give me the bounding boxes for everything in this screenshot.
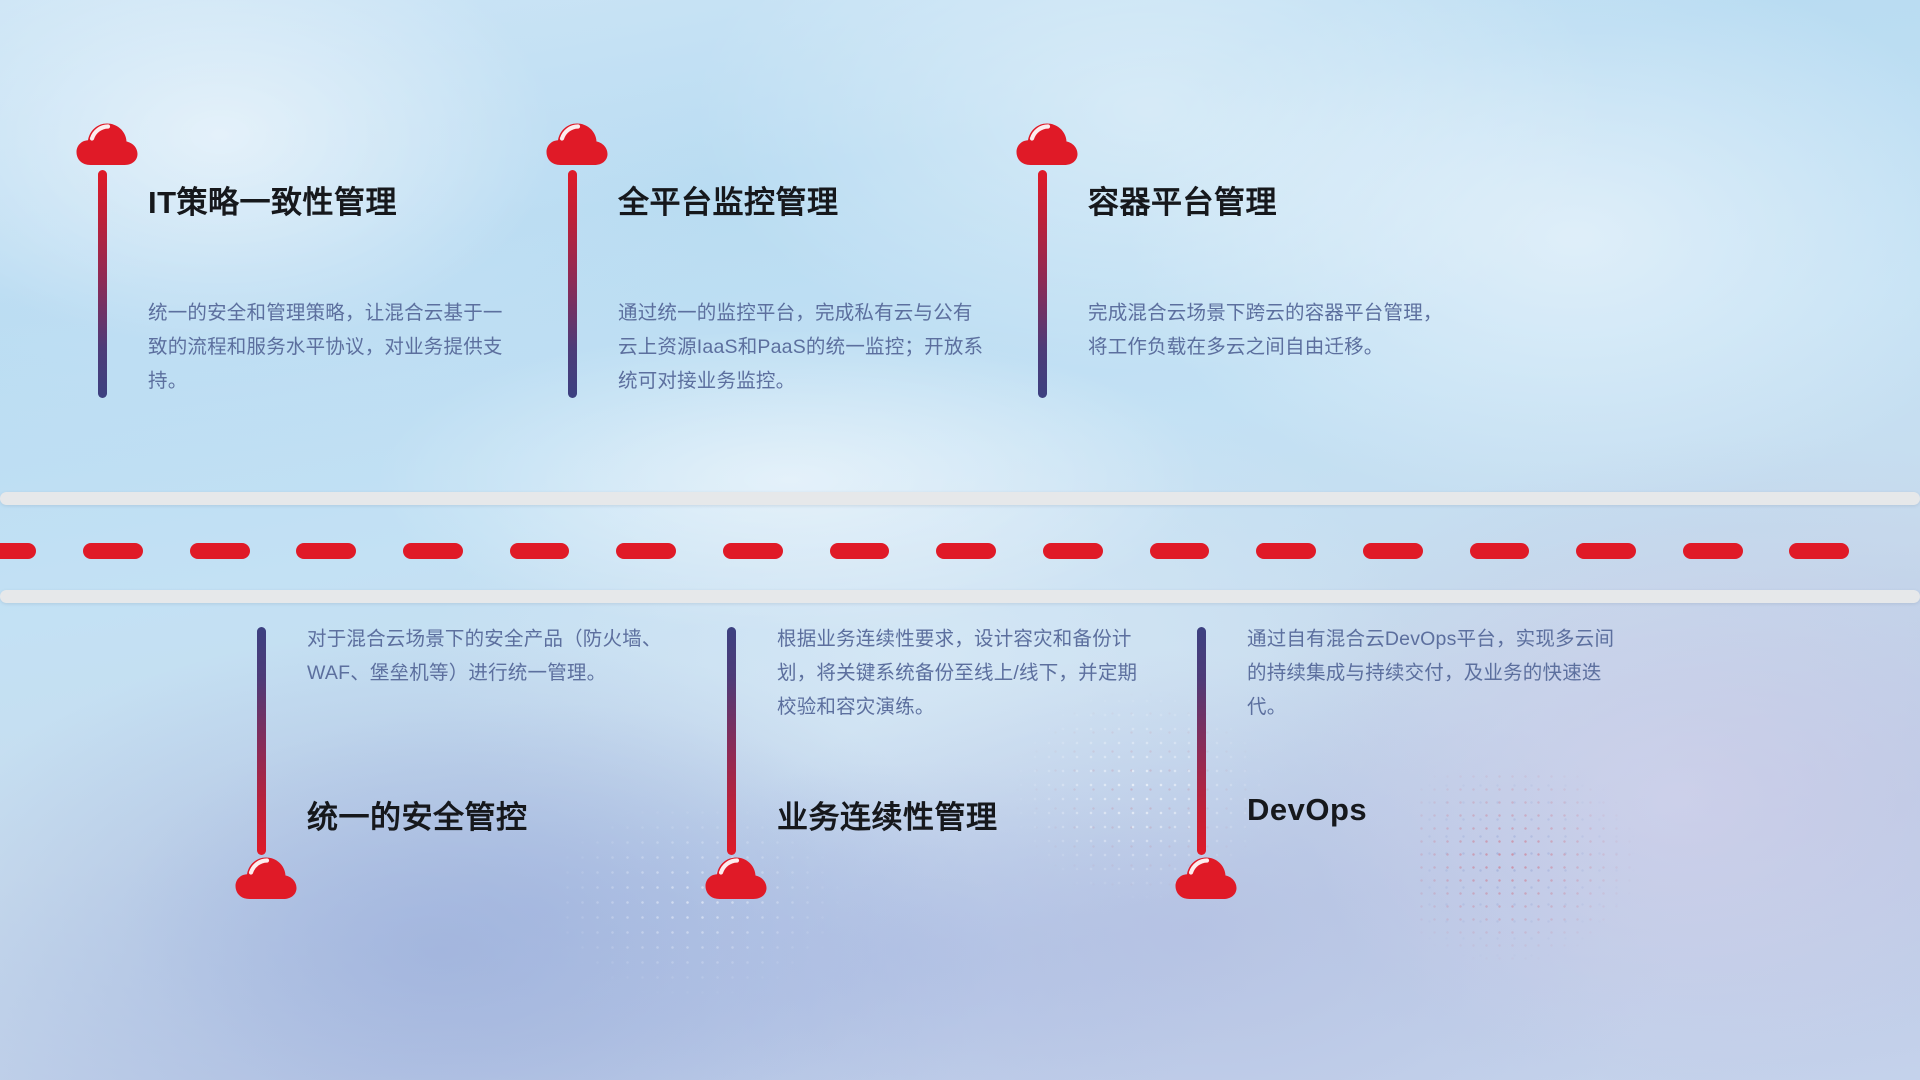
- cloud-icon: [235, 856, 297, 900]
- background-glow-3: [1300, 520, 1920, 1080]
- road-line-upper: [0, 492, 1920, 505]
- road-dash-segment: [510, 543, 570, 559]
- road-dash-segment: [1576, 543, 1636, 559]
- infographic-canvas: IT策略一致性管理 统一的安全和管理策略，让混合云基于一致的流程和服务水平协议，…: [0, 0, 1920, 1080]
- road-dash-segment: [1043, 543, 1103, 559]
- road-dash-segment: [1789, 543, 1849, 559]
- road-dash-segment: [83, 543, 143, 559]
- road-dash-segment: [723, 543, 783, 559]
- road-dash-segment: [1256, 543, 1316, 559]
- road-dash-segment: [1683, 543, 1743, 559]
- connector-stem: [1038, 170, 1047, 398]
- cloud-icon: [1016, 122, 1078, 166]
- column-title: 容器平台管理: [1088, 177, 1277, 222]
- cloud-icon: [76, 122, 138, 166]
- road-dash-segment: [1363, 543, 1423, 559]
- column-body: 通过自有混合云DevOps平台，实现多云间的持续集成与持续交付，及业务的快速迭代…: [1247, 622, 1617, 724]
- halftone-dots-right: [1415, 770, 1645, 970]
- road-dashed-line: [0, 543, 1897, 559]
- road-dash-segment: [830, 543, 890, 559]
- connector-stem: [98, 170, 107, 398]
- road-dash-segment: [616, 543, 676, 559]
- connector-stem: [568, 170, 577, 398]
- road-dash-segment: [403, 543, 463, 559]
- column-body: 完成混合云场景下跨云的容器平台管理，将工作负载在多云之间自由迁移。: [1088, 296, 1458, 364]
- road-dash-segment: [296, 543, 356, 559]
- road-dash-segment: [190, 543, 250, 559]
- connector-stem: [257, 627, 266, 855]
- column-body: 统一的安全和管理策略，让混合云基于一致的流程和服务水平协议，对业务提供支持。: [148, 296, 518, 398]
- column-body: 通过统一的监控平台，完成私有云与公有云上资源IaaS和PaaS的统一监控；开放系…: [618, 296, 988, 398]
- connector-stem: [727, 627, 736, 855]
- road-dash-segment: [1470, 543, 1530, 559]
- column-title: 业务连续性管理: [777, 792, 998, 837]
- road-dash-segment: [1150, 543, 1210, 559]
- road-dash-segment: [936, 543, 996, 559]
- cloud-icon: [546, 122, 608, 166]
- column-title: 统一的安全管控: [307, 792, 528, 837]
- road-line-lower: [0, 590, 1920, 603]
- road-dash-segment: [0, 543, 36, 559]
- connector-stem: [1197, 627, 1206, 855]
- column-title: 全平台监控管理: [618, 177, 839, 222]
- column-title: IT策略一致性管理: [148, 177, 397, 222]
- cloud-icon: [1175, 856, 1237, 900]
- column-body: 对于混合云场景下的安全产品（防火墙、WAF、堡垒机等）进行统一管理。: [307, 622, 677, 690]
- column-title: DevOps: [1247, 792, 1367, 828]
- cloud-icon: [705, 856, 767, 900]
- column-body: 根据业务连续性要求，设计容灾和备份计划，将关键系统备份至线上/线下，并定期校验和…: [777, 622, 1147, 724]
